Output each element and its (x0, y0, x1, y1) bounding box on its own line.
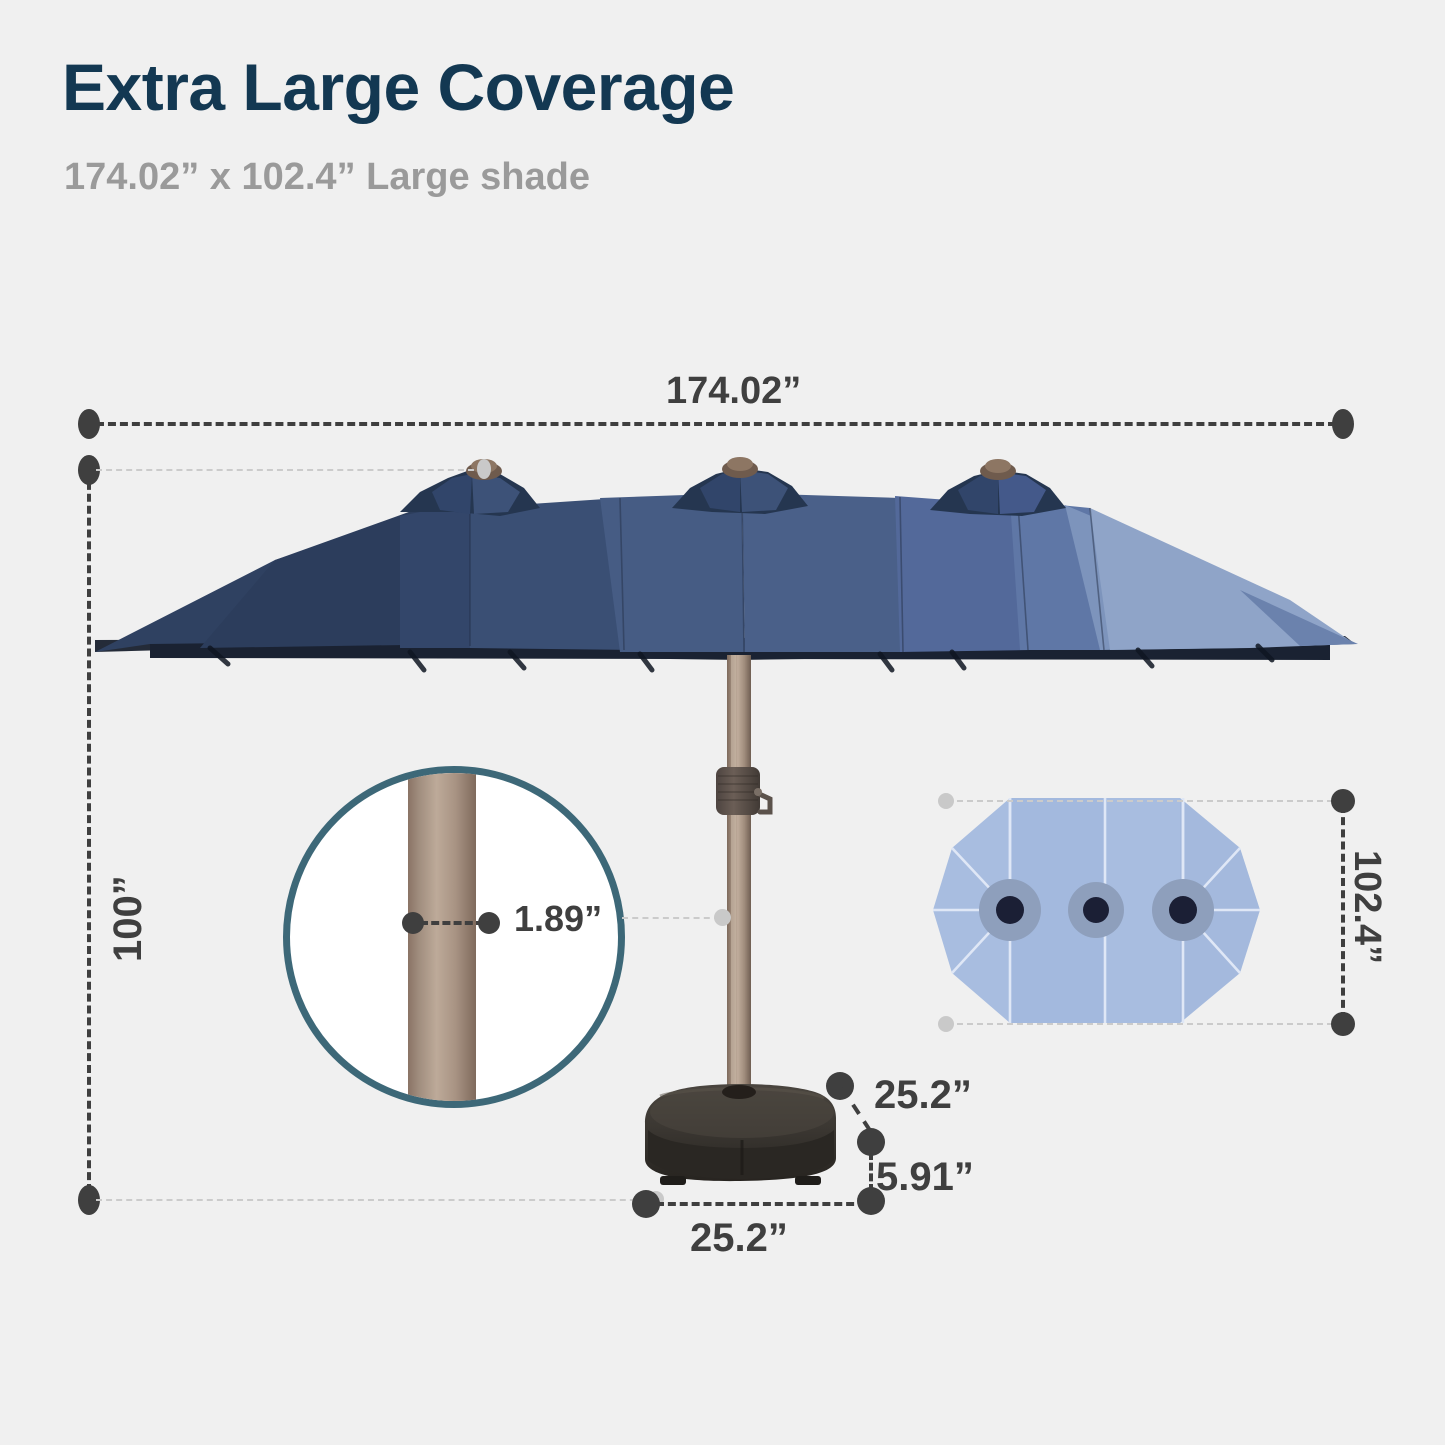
depth-bottom-extension-line (947, 1023, 1333, 1025)
depth-bottom-extension-dot (938, 1016, 954, 1032)
width-dim-label: 174.02” (666, 372, 801, 410)
base-width-label: 25.2” (690, 1218, 788, 1258)
base-depth-label: 25.2” (874, 1075, 972, 1115)
height-top-extension-line (96, 469, 484, 471)
depth-top-extension-line (947, 800, 1333, 802)
infographic-canvas: Extra Large Coverage 174.02” x 102.4” La… (0, 0, 1445, 1445)
canopy-top-view (930, 788, 1280, 1038)
page-title: Extra Large Coverage (62, 54, 734, 120)
depth-dim-label: 102.4” (1348, 850, 1386, 964)
height-dim-line (87, 470, 91, 1192)
base-height-label: 5.91” (876, 1157, 974, 1197)
pole-diameter-label: 1.89” (514, 898, 602, 940)
depth-top-extension-dot (938, 793, 954, 809)
width-dim-line (96, 422, 1336, 426)
pole-closeup-graphic (408, 766, 476, 1108)
top-view-hubs (979, 879, 1214, 941)
pole-callout-extension-dot (714, 909, 731, 926)
height-dim-label: 100” (108, 875, 148, 962)
pole-callout-extension-line (622, 917, 720, 919)
height-top-extension-dot (477, 459, 491, 479)
depth-dim-line (1341, 805, 1345, 1020)
pole-dim-line (420, 921, 484, 925)
page-subtitle: 174.02” x 102.4” Large shade (64, 158, 590, 196)
base-height-dim-line (869, 1152, 873, 1192)
base-width-dim-line (656, 1202, 866, 1206)
height-bottom-extension-line (96, 1199, 656, 1201)
